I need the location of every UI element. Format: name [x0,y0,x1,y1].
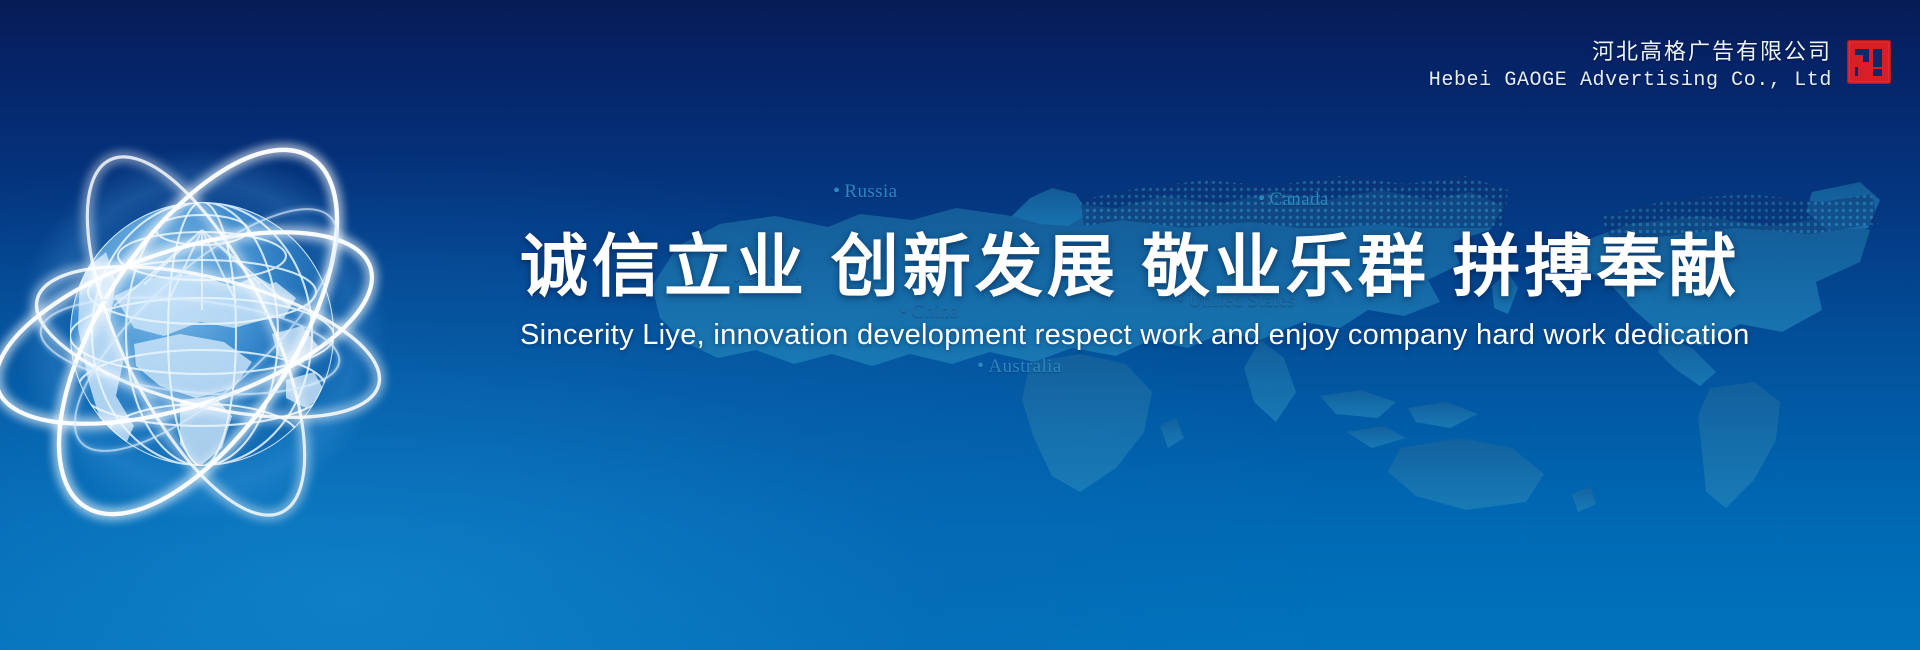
company-header: 河北高格广告有限公司 Hebei GAOGE Advertising Co., … [1429,36,1892,94]
company-name-en: Hebei GAOGE Advertising Co., Ltd [1429,68,1832,94]
slogan-chinese: 诚信立业 创新发展 敬业乐群 拼搏奉献 [520,232,1820,303]
map-label-australia: Australia [977,355,1062,378]
globe-svg [0,96,424,566]
globe-polar-spokes [114,230,290,310]
company-name-group: 河北高格广告有限公司 Hebei GAOGE Advertising Co., … [1429,36,1832,94]
globe-orbit-rings [0,105,395,558]
globe-meridians [70,202,334,466]
logo-svg [1846,39,1892,85]
slogan-block: 诚信立业 创新发展 敬业乐群 拼搏奉献 Sincerity Liye, inno… [520,232,1820,352]
globe-orbit-graphic [0,96,424,566]
company-name-cn: 河北高格广告有限公司 [1592,38,1832,66]
gaoge-monogram-logo-icon [1846,39,1892,85]
globe-sphere [70,202,334,466]
map-label-russia: Russia [833,180,897,203]
map-halftone-region [1080,176,1508,232]
globe-orbit-rings-secondary [36,173,371,487]
slogan-english: Sincerity Liye, innovation development r… [520,319,1820,352]
company-banner: Russia Canada Europe China United States… [0,0,1920,650]
globe-surface [70,202,334,508]
globe-parallels [70,215,334,468]
globe-halo [16,148,388,520]
map-label-canada: Canada [1258,188,1329,211]
